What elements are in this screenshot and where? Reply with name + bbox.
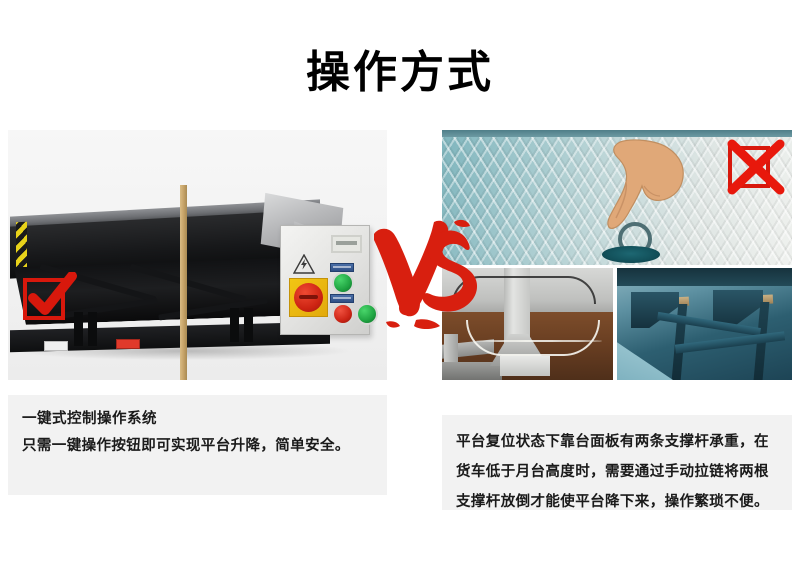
box-cross-icon [726,138,786,200]
display-window [331,235,362,253]
right-description-box: 平台复位状态下靠台面板有两条支撑杆承重，在货车低于月台高度时，需要通过手动拉链将… [442,415,792,510]
deck-edge-band [617,268,792,286]
vs-brush-mark [372,216,480,336]
rotary-knob[interactable] [294,283,323,312]
vertical-tube [444,334,458,364]
frame-foot [230,308,239,342]
one-button-control-panel[interactable] [280,225,370,335]
deck-far-edge [442,130,792,137]
right-body-text: 平台复位状态下靠台面板有两条支撑杆承重，在货车低于月台高度时，需要通过手动拉链将… [456,427,778,517]
page-title: 操作方式 [0,44,800,102]
button-label-tag [330,263,354,272]
hydraulic-dock-leveler-photo [8,130,387,380]
ring-anchor-plate [602,246,660,263]
left-description-box: 一键式控制操作系统 只需一键操作按钮即可实现平台升降，简单安全。 [8,395,387,495]
spec-plate [44,341,68,351]
red-button-stop[interactable] [332,303,354,325]
support-bar-structure-photo [617,268,792,380]
green-button-up[interactable] [332,272,354,294]
pull-chain [476,340,602,342]
support-post [180,185,187,380]
frame-foot [88,312,97,346]
warning-label [116,339,140,349]
emergency-rotary-switch[interactable] [289,278,328,317]
frame-foot [244,308,253,342]
checkbox-check-icon [22,272,78,326]
hand-graphic [602,138,694,233]
electric-shock-warning-icon [293,254,315,273]
metal-panel [500,356,550,376]
left-heading: 一键式控制操作系统 [22,407,373,431]
hazard-stripe [16,222,27,271]
left-body-text: 只需一键操作按钮即可实现平台升降，简单安全。 [22,431,373,461]
pull-chain [466,320,600,356]
button-label-tag [330,294,354,303]
